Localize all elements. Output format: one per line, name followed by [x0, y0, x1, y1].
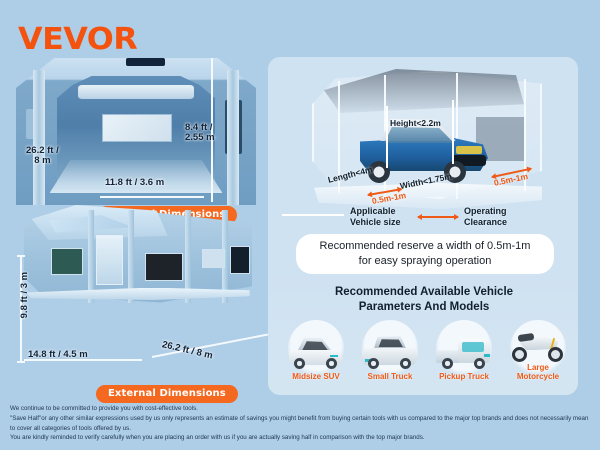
model-label: Midsize SUV [292, 373, 340, 382]
tent-window [145, 253, 182, 282]
recommended-models-row: Midsize SUV Small Truck Pickup Truck Lar… [282, 320, 572, 382]
vehicle-height-label: Height<2.2m [390, 118, 441, 128]
model-card-pickup-truck[interactable]: Pickup Truck [430, 320, 498, 382]
tent-window [51, 248, 83, 276]
booth-top-vent [126, 58, 164, 66]
disclaimer-line-3: You are kindly reminded to verify carefu… [10, 433, 590, 443]
model-card-midsize-suv[interactable]: Midsize SUV [282, 320, 350, 382]
external-dimensions-badge: External Dimensions [96, 385, 238, 403]
models-section-title: Recommended Available Vehicle Parameters… [288, 285, 560, 315]
tent-window [230, 246, 250, 274]
tent-window [202, 249, 224, 268]
right-pillar [227, 70, 239, 205]
recommendation-callout: Recommended reserve a width of 0.5m-1m f… [296, 234, 554, 274]
legend-operating-clearance: Operating Clearance [464, 206, 507, 228]
height-measure-line-secondary [452, 100, 454, 164]
model-label: Small Truck [368, 373, 413, 382]
external-height-label: 9.8 ft / 3 m [20, 272, 30, 318]
internal-depth-label: 26.2 ft / 8 m [26, 146, 59, 167]
vevor-logo: VEVOR [18, 22, 137, 57]
legend-applicable-vehicle-size: Applicable Vehicle size [350, 206, 401, 228]
pickup-truck-icon [434, 333, 494, 373]
external-width-label: 14.8 ft / 4.5 m [28, 350, 88, 360]
disclaimer-line-2: "Save Half"or any other similar expressi… [10, 414, 590, 434]
legend-orange-arrow-marker [418, 216, 458, 218]
model-card-small-truck[interactable]: Small Truck [356, 320, 424, 382]
left-pillar [33, 70, 45, 205]
motorcycle-icon [508, 324, 568, 364]
suv-icon [286, 333, 346, 373]
model-card-large-motorcycle[interactable]: Large Motorcycle [504, 320, 572, 382]
car-license-plate [456, 146, 482, 154]
height-measure-line [386, 106, 388, 168]
external-booth-illustration [14, 190, 262, 315]
disclaimer-line-1: We continue to be committed to provide y… [10, 404, 590, 414]
small-truck-icon [360, 333, 420, 373]
diagram-legend: Applicable Vehicle size Operating Cleara… [272, 200, 572, 230]
tent-rib [88, 210, 93, 303]
recommendation-text: Recommended reserve a width of 0.5m-1m f… [320, 239, 531, 269]
tent-door [96, 235, 123, 285]
footer-disclaimer: We continue to be committed to provide y… [0, 402, 600, 450]
ceiling-duct [78, 85, 193, 99]
internal-height-label: 8.4 ft / 2.55 m [185, 123, 215, 144]
clearance-diagram [280, 65, 566, 217]
back-filter-panel [102, 114, 172, 143]
booth-exterior-shape [14, 190, 262, 315]
model-label: Large Motorcycle [517, 364, 559, 382]
internal-width-label: 11.8 ft / 3.6 m [105, 178, 164, 188]
legend-white-line-marker [282, 214, 344, 216]
model-label: Pickup Truck [439, 373, 489, 382]
